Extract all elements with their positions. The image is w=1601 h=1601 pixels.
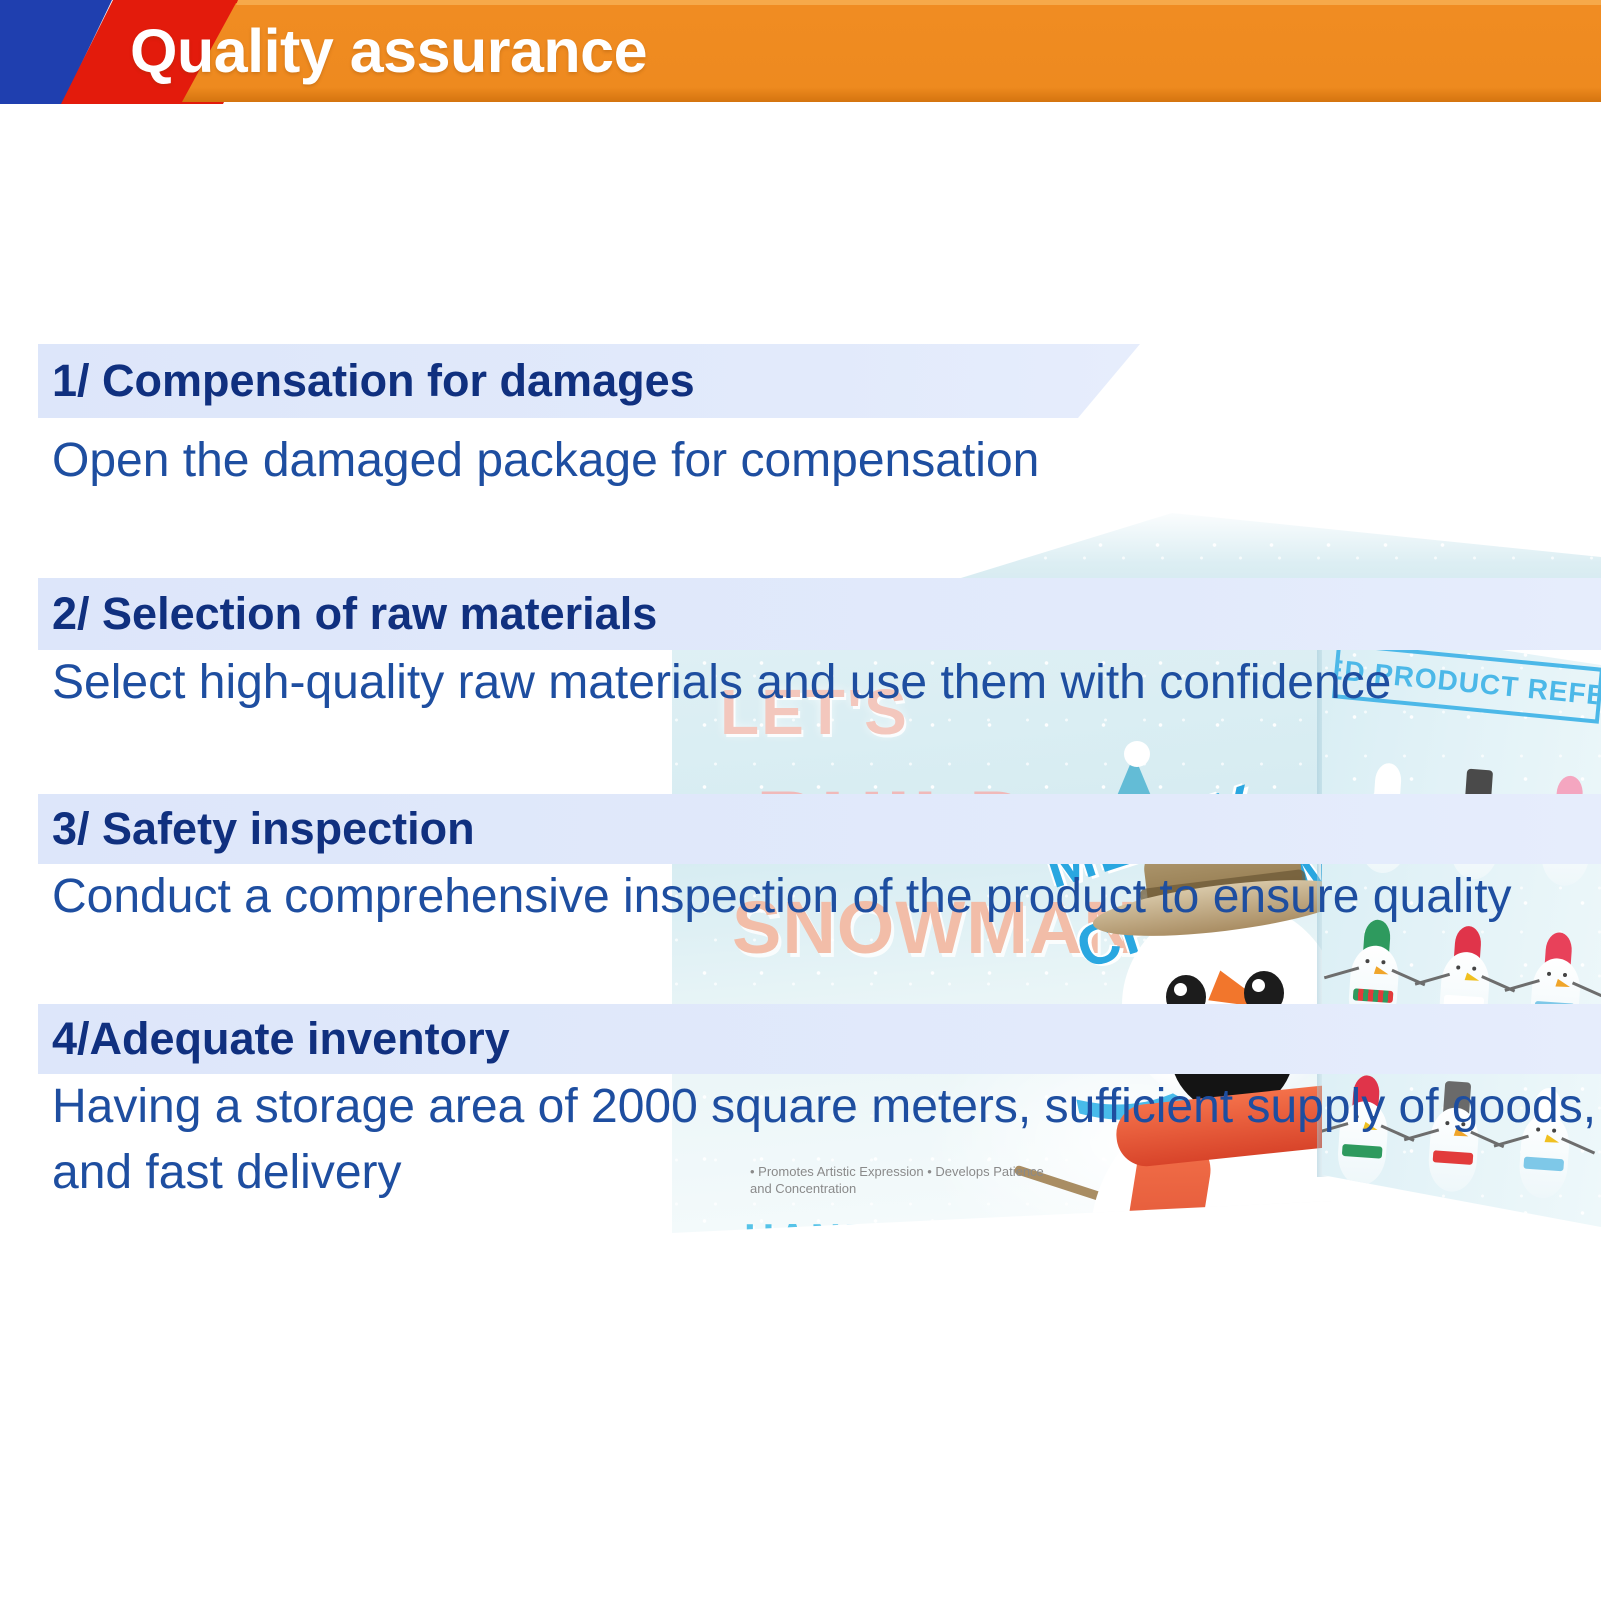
section-heading-1-text: 1/ Compensation for damages: [38, 355, 695, 407]
section-body-2: Select high-quality raw materials and us…: [38, 650, 1598, 716]
section-heading-2-text: 2/ Selection of raw materials: [38, 588, 657, 640]
section-heading-4: 4/Adequate inventory: [38, 1004, 1601, 1074]
section-heading-2: 2/ Selection of raw materials: [38, 578, 1601, 650]
section-heading-3-text: 3/ Safety inspection: [38, 803, 475, 855]
section-heading-3: 3/ Safety inspection: [38, 794, 1601, 864]
section-heading-1: 1/ Compensation for damages: [38, 344, 1140, 418]
quality-assurance-list: 1/ Compensation for damages Open the dam…: [0, 0, 1601, 1601]
section-body-4: Having a storage area of 2000 square met…: [38, 1074, 1598, 1206]
section-body-3: Conduct a comprehensive inspection of th…: [38, 864, 1598, 930]
section-heading-4-text: 4/Adequate inventory: [38, 1013, 510, 1065]
section-body-1: Open the damaged package for compensatio…: [38, 428, 1598, 494]
